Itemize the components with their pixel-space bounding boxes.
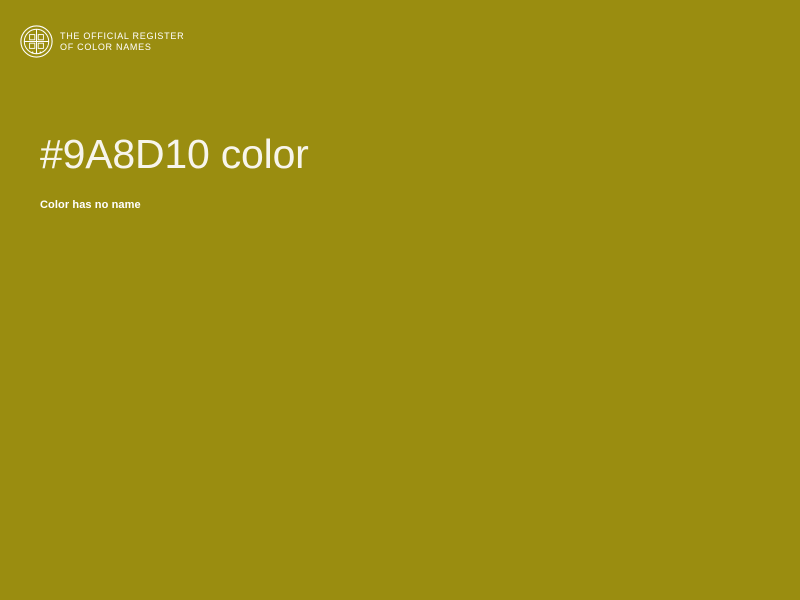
- brand-lockup[interactable]: THE OFFICIAL REGISTER OF COLOR NAMES: [20, 25, 184, 58]
- color-swatch-field: [0, 230, 800, 600]
- register-seal-icon: [20, 25, 53, 58]
- color-detail-page: THE OFFICIAL REGISTER OF COLOR NAMES #9A…: [0, 0, 800, 600]
- brand-line-1: THE OFFICIAL REGISTER: [60, 31, 184, 42]
- brand-line-2: OF COLOR NAMES: [60, 42, 184, 53]
- page-title: #9A8D10 color: [40, 131, 309, 177]
- brand-wordmark: THE OFFICIAL REGISTER OF COLOR NAMES: [60, 30, 184, 53]
- color-name-status: Color has no name: [40, 198, 141, 212]
